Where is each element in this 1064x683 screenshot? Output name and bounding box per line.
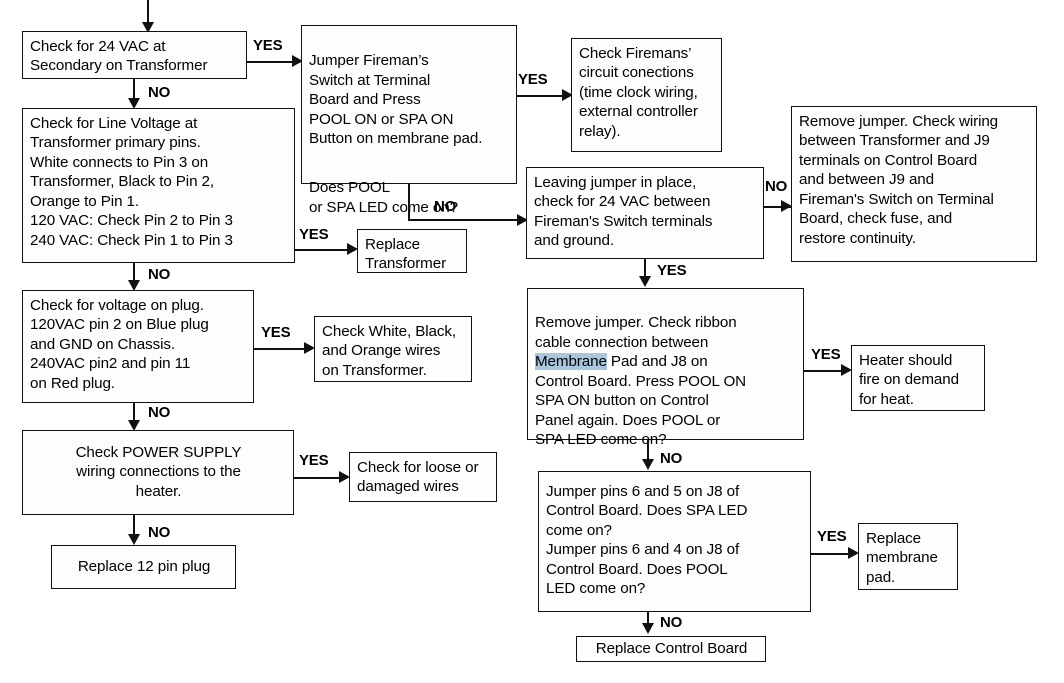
label-no-leaving-jumper: NO (765, 178, 787, 195)
arrowhead-powersupply-to-12pinplug (128, 534, 140, 545)
label-yes-power-supply: YES (299, 452, 328, 469)
jumper-firemans-instruction: Jumper Fireman’s Switch at Terminal Boar… (302, 45, 516, 148)
box-replace-12-pin-plug[interactable]: Replace 12 pin plug (51, 545, 236, 589)
label-yes-voltage-plug: YES (261, 324, 290, 341)
entry-connector-line (147, 0, 149, 24)
label-no-jumper-pins: NO (660, 614, 682, 631)
ribbon-text-before-highlight: Remove jumper. Check ribbon cable connec… (535, 314, 737, 350)
arrowhead-ribbon-to-jumperpins (642, 459, 654, 470)
arrowhead-jumperpins-to-controlboard (642, 623, 654, 634)
connector-jumper-down (408, 184, 410, 221)
label-no-line-voltage: NO (148, 266, 170, 283)
box-check-wires-transformer[interactable]: Check White, Black, and Orange wires on … (314, 316, 472, 382)
box-check-24vac[interactable]: Check for 24 VAC at Secondary on Transfo… (22, 31, 247, 79)
label-no-voltage-plug: NO (148, 404, 170, 421)
box-replace-control-board[interactable]: Replace Control Board (576, 636, 766, 662)
box-replace-membrane-pad[interactable]: Replace membrane pad. (858, 523, 958, 590)
box-check-voltage-plug[interactable]: Check for voltage on plug. 120VAC pin 2 … (22, 290, 254, 403)
label-no-jumper-fireman: NO (434, 198, 456, 215)
box-check-loose-wires[interactable]: Check for loose or damaged wires (349, 452, 497, 502)
label-no-24vac: NO (148, 84, 170, 101)
box-heater-should-fire[interactable]: Heater should fire on demand for heat. (851, 345, 985, 411)
label-yes-ribbon: YES (811, 346, 840, 363)
box-leaving-jumper[interactable]: Leaving jumper in place, check for 24 VA… (526, 167, 764, 259)
arrowhead-leaving-to-ribbon (639, 276, 651, 287)
label-no-ribbon: NO (660, 450, 682, 467)
label-yes-24vac: YES (253, 37, 282, 54)
membrane-highlighted-text[interactable]: Membrane (535, 353, 607, 370)
label-no-power-supply: NO (148, 524, 170, 541)
label-yes-jumper-fireman: YES (518, 71, 547, 88)
box-jumper-firemans-switch[interactable]: Jumper Fireman’s Switch at Terminal Boar… (301, 25, 517, 184)
connector-jumper-to-leaving (408, 219, 524, 221)
connector-linevoltage-to-replacetransformer (295, 249, 355, 251)
box-check-power-supply[interactable]: Check POWER SUPPLY wiring connections to… (22, 430, 294, 515)
box-remove-jumper-wiring[interactable]: Remove jumper. Check wiring between Tran… (791, 106, 1037, 262)
label-yes-jumper-pins: YES (817, 528, 846, 545)
box-check-firemans-circuit[interactable]: Check Firemans’ circuit conections (time… (571, 38, 722, 152)
flowchart-canvas: Check for 24 VAC at Secondary on Transfo… (0, 0, 1064, 683)
label-yes-leaving-jumper: YES (657, 262, 686, 279)
box-jumper-pins[interactable]: Jumper pins 6 and 5 on J8 of Control Boa… (538, 471, 811, 612)
box-check-line-voltage[interactable]: Check for Line Voltage at Transformer pr… (22, 108, 295, 263)
box-remove-jumper-ribbon[interactable]: Remove jumper. Check ribbon cable connec… (527, 288, 804, 440)
